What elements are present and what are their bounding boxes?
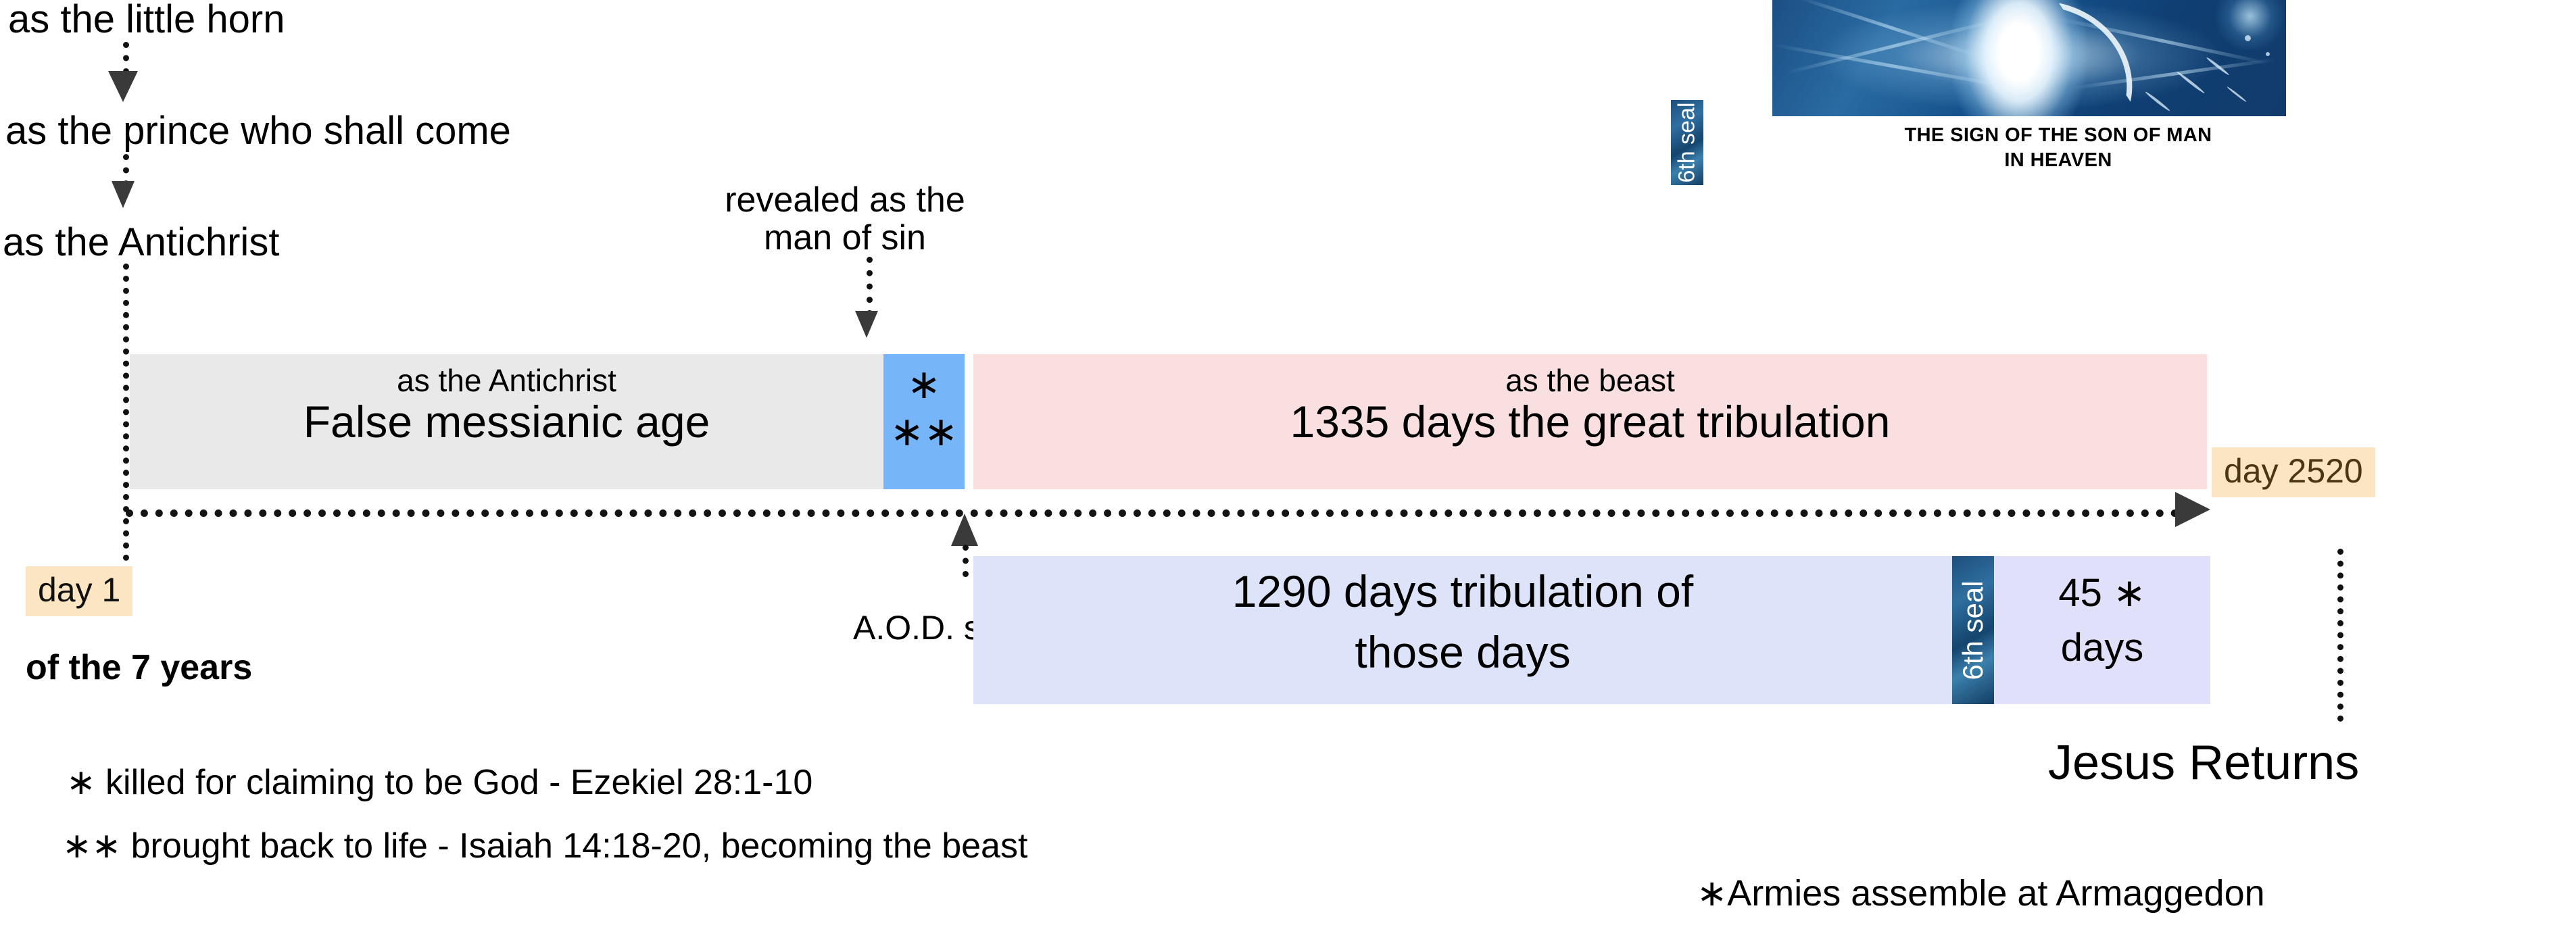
label-6th-seal-picture-vertical: 6th seal: [1674, 102, 1701, 182]
label-as-the-antichrist: as the Antichrist: [3, 223, 279, 262]
chip-day-2520: day 2520: [2212, 447, 2375, 497]
label-jesus-returns: Jesus Returns: [2048, 735, 2359, 791]
image-sign-of-the-son-of-man: [1772, 0, 2286, 116]
callout-line-1: revealed as the: [669, 181, 1021, 219]
label-as-the-little-horn: as the little horn: [8, 0, 285, 39]
asterisk-double-marker: ∗∗: [883, 408, 965, 455]
footnote-double-asterisk: ∗∗ brought back to life - Isaiah 14:18-2…: [62, 826, 1027, 866]
scythe-shape-icon: [2042, 3, 2147, 102]
arrow-down-icon-3: [855, 311, 878, 338]
segment-great-tribulation[interactable]: as the beast 1335 days the great tribula…: [973, 354, 2207, 489]
lower-timeline-bar: 1290 days tribulation of those days 6th …: [0, 556, 2576, 704]
segment-gray-sublabel: as the Antichrist: [130, 362, 883, 399]
segment-45-days[interactable]: 45 ∗ days: [1994, 556, 2210, 704]
callout-line-2: man of sin: [669, 219, 1021, 257]
segment-gray-title: False messianic age: [130, 396, 883, 447]
segment-pink-title: 1335 days the great tribulation: [973, 396, 2207, 447]
main-timeline-dotted-line: [126, 509, 2194, 517]
asterisk-single-marker: ∗: [883, 361, 965, 408]
segment-1290-line-1: 1290 days tribulation of: [973, 566, 1952, 617]
footnote-single-asterisk: ∗ killed for claiming to be God - Ezekie…: [66, 762, 812, 803]
callout-revealed-as-the-man-of-sin: revealed as the man of sin: [669, 181, 1021, 257]
arrow-down-icon-1: [108, 71, 138, 102]
connector-dotted-revealed-to-bar: [867, 257, 873, 316]
badge-6th-seal-picture: 6th seal: [1671, 100, 1703, 185]
segment-false-messianic-age[interactable]: as the Antichrist False messianic age: [130, 354, 883, 489]
image-canvas: [1772, 0, 2286, 116]
arrow-down-icon-2: [112, 181, 135, 208]
segment-pink-sublabel: as the beast: [973, 362, 2207, 399]
footnote-armageddon: ∗Armies assemble at Armaggedon: [1697, 872, 2265, 914]
caption-sign-of-the-son-of-man: THE SIGN OF THE SON OF MAN IN HEAVEN: [1825, 123, 2291, 173]
caption-line-1: THE SIGN OF THE SON OF MAN: [1825, 123, 2291, 148]
segment-6th-seal-divider[interactable]: 6th seal: [1952, 556, 1994, 704]
connector-dotted-little-horn-to-prince: [123, 42, 129, 74]
label-6th-seal-vertical: 6th seal: [1957, 580, 1989, 680]
upper-timeline-bar: as the Antichrist False messianic age ∗ …: [0, 354, 2576, 489]
segment-1290-line-2: those days: [973, 626, 1952, 678]
label-as-the-prince-who-shall-come: as the prince who shall come: [5, 111, 511, 151]
arrow-up-icon-aod: [951, 514, 978, 546]
caption-line-2: IN HEAVEN: [1825, 148, 2291, 173]
segment-1290-days-tribulation[interactable]: 1290 days tribulation of those days: [973, 556, 1952, 704]
segment-death-and-resurrection[interactable]: ∗ ∗∗: [883, 354, 965, 489]
arrow-right-icon: [2175, 492, 2210, 527]
segment-45-line-2: days: [1994, 625, 2210, 670]
segment-45-line-1: 45 ∗: [1994, 570, 2210, 616]
